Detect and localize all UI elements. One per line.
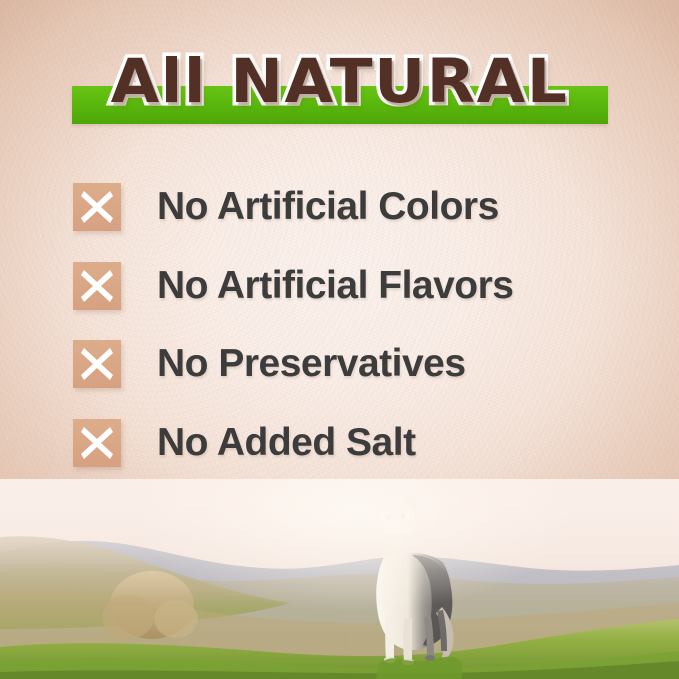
page-title: All NATURAL <box>0 40 679 124</box>
x-mark-icon <box>73 183 121 231</box>
list-item: No Artificial Flavors <box>73 255 633 334</box>
headline-banner: All NATURAL <box>0 40 679 136</box>
landscape-photo <box>0 479 679 679</box>
list-item: No Artificial Colors <box>73 176 633 255</box>
all-natural-product-poster: All NATURAL No Artificial Colors No Arti… <box>0 0 679 679</box>
claims-list: No Artificial Colors No Artificial Flavo… <box>73 176 633 490</box>
claim-label: No Artificial Flavors <box>157 255 513 317</box>
list-item: No Preservatives <box>73 333 633 412</box>
claim-label: No Preservatives <box>157 333 466 395</box>
x-mark-icon <box>73 262 121 310</box>
x-mark-icon <box>73 419 121 467</box>
x-mark-icon <box>73 340 121 388</box>
claim-label: No Added Salt <box>157 412 416 474</box>
claim-label: No Artificial Colors <box>157 176 499 238</box>
